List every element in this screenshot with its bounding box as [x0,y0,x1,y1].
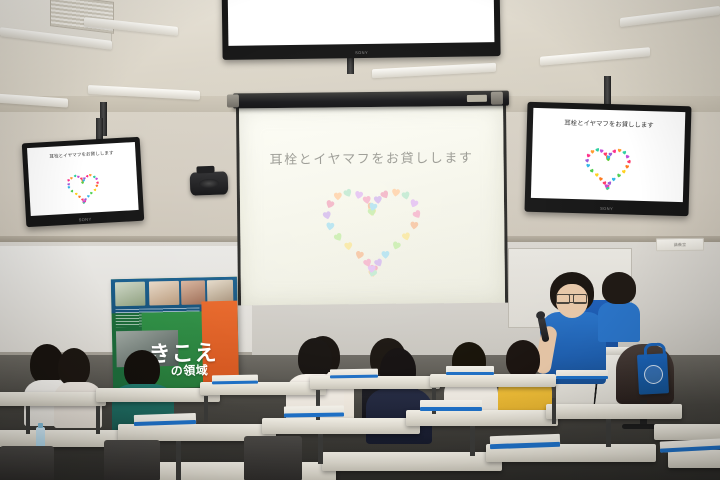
heart-shape-icon [68,186,71,189]
heart-shape-icon [344,241,354,251]
attendee [54,348,100,418]
left-monitor-screen: 耳栓とイヤマフをお貸しします [27,142,139,216]
heart-shape-icon [391,241,401,251]
left-wall-monitor: 耳栓とイヤマフをお貸しします SONY [22,137,145,227]
heart-shape-icon [90,191,93,194]
projection-surface: 耳栓とイヤマフをお貸しします [239,105,505,306]
heart-shape-icon [625,154,630,159]
wall-speaker-icon [190,171,229,195]
monitor-brand-label: SONY [355,50,368,55]
poster-photo [149,281,179,306]
heart-shape-icon [343,188,353,198]
projection-screen: 耳栓とイヤマフをお貸しします [239,91,505,312]
tote-handle [643,342,666,359]
desk [322,452,502,471]
desk-leg [96,406,100,434]
desk [546,404,682,419]
heart-shape-icon [78,195,81,198]
chair [104,440,160,480]
poster-photo [115,282,145,307]
heart-shape-icon [380,189,390,199]
desk-leg [552,398,556,424]
monitor-brand-label: SONY [600,206,613,211]
glasses-icon [556,294,587,303]
heart-shape-icon [409,221,419,231]
heart-graphic-vivid [531,108,685,202]
room-sign: 講義室 [656,238,704,252]
attendee [112,350,172,422]
heart-shape-icon [70,189,73,192]
tote-bag [637,353,669,395]
heart-shape-icon [616,173,621,178]
heart-shape-icon [354,250,364,260]
lecture-hall-photo: 講義室 SONY 耳栓とイヤマフをお貸しします SONY 耳栓とイヤマフをお貸し… [0,0,720,480]
heart-shape-icon [93,188,96,191]
heart-shape-icon [74,192,77,195]
tote-logo [644,364,664,384]
ceiling-monitor: SONY [221,0,500,60]
desk [430,374,556,387]
desk-leg [176,441,181,480]
desk [668,450,720,468]
heart-graphic-vivid [27,142,139,216]
room-sign-label: 講義室 [674,241,687,247]
chair [244,436,302,480]
attendee-hair [124,350,160,388]
desk [0,392,106,406]
desk-leg [26,406,30,434]
desk [654,424,720,440]
roller-cap [227,94,239,107]
heart-graphic-vivid [227,0,494,46]
desk-leg [318,434,323,464]
heart-shape-icon [409,199,419,209]
desk-leg [470,426,475,456]
attendee-hair [58,348,90,386]
monitor-brand-label: SONY [78,217,91,223]
left-monitor-slide: 耳栓とイヤマフをお貸しします [27,142,135,148]
desk-leg [606,419,611,447]
attendee-hair [506,340,540,378]
right-monitor-screen: 耳栓とイヤマフをお貸しします [531,108,685,202]
desk [406,410,558,426]
desk-leg [204,396,208,422]
heart-shape-icon [95,177,98,180]
screen-roller-case [233,91,509,109]
heart-shape-icon [599,177,604,182]
heart-shape-icon [589,168,594,173]
chair [0,446,54,480]
attendee-hair [298,338,332,378]
folder-band [420,407,482,411]
desk [262,418,420,434]
reflected-body [598,302,640,342]
heart-graphic-pastel [239,105,505,306]
heart-shape-icon [326,221,336,231]
roller-cap [491,92,503,105]
heart-shape-icon [67,182,70,185]
heart-shape-icon [412,209,422,219]
roller-logo [467,95,487,102]
heart-shape-icon [621,169,626,174]
heart-shape-icon [594,173,599,178]
heart-shape-icon [322,210,332,220]
monitor-mount-pole [96,118,103,140]
right-wall-monitor: 耳栓とイヤマフをお貸しします SONY [524,102,691,217]
folder-band [446,372,494,375]
heart-shape-icon [586,163,591,168]
ceiling-monitor-screen [227,0,494,46]
heart-shape-icon [333,192,343,202]
heart-shape-icon [333,232,343,242]
folder-band [556,376,608,379]
reflected-hair [602,272,636,304]
monitor-mount-pole [604,76,611,106]
reflected-person [598,272,638,338]
heart-shape-icon [401,231,411,241]
speaker-cone [199,179,219,189]
heart-shape-icon [626,159,631,164]
